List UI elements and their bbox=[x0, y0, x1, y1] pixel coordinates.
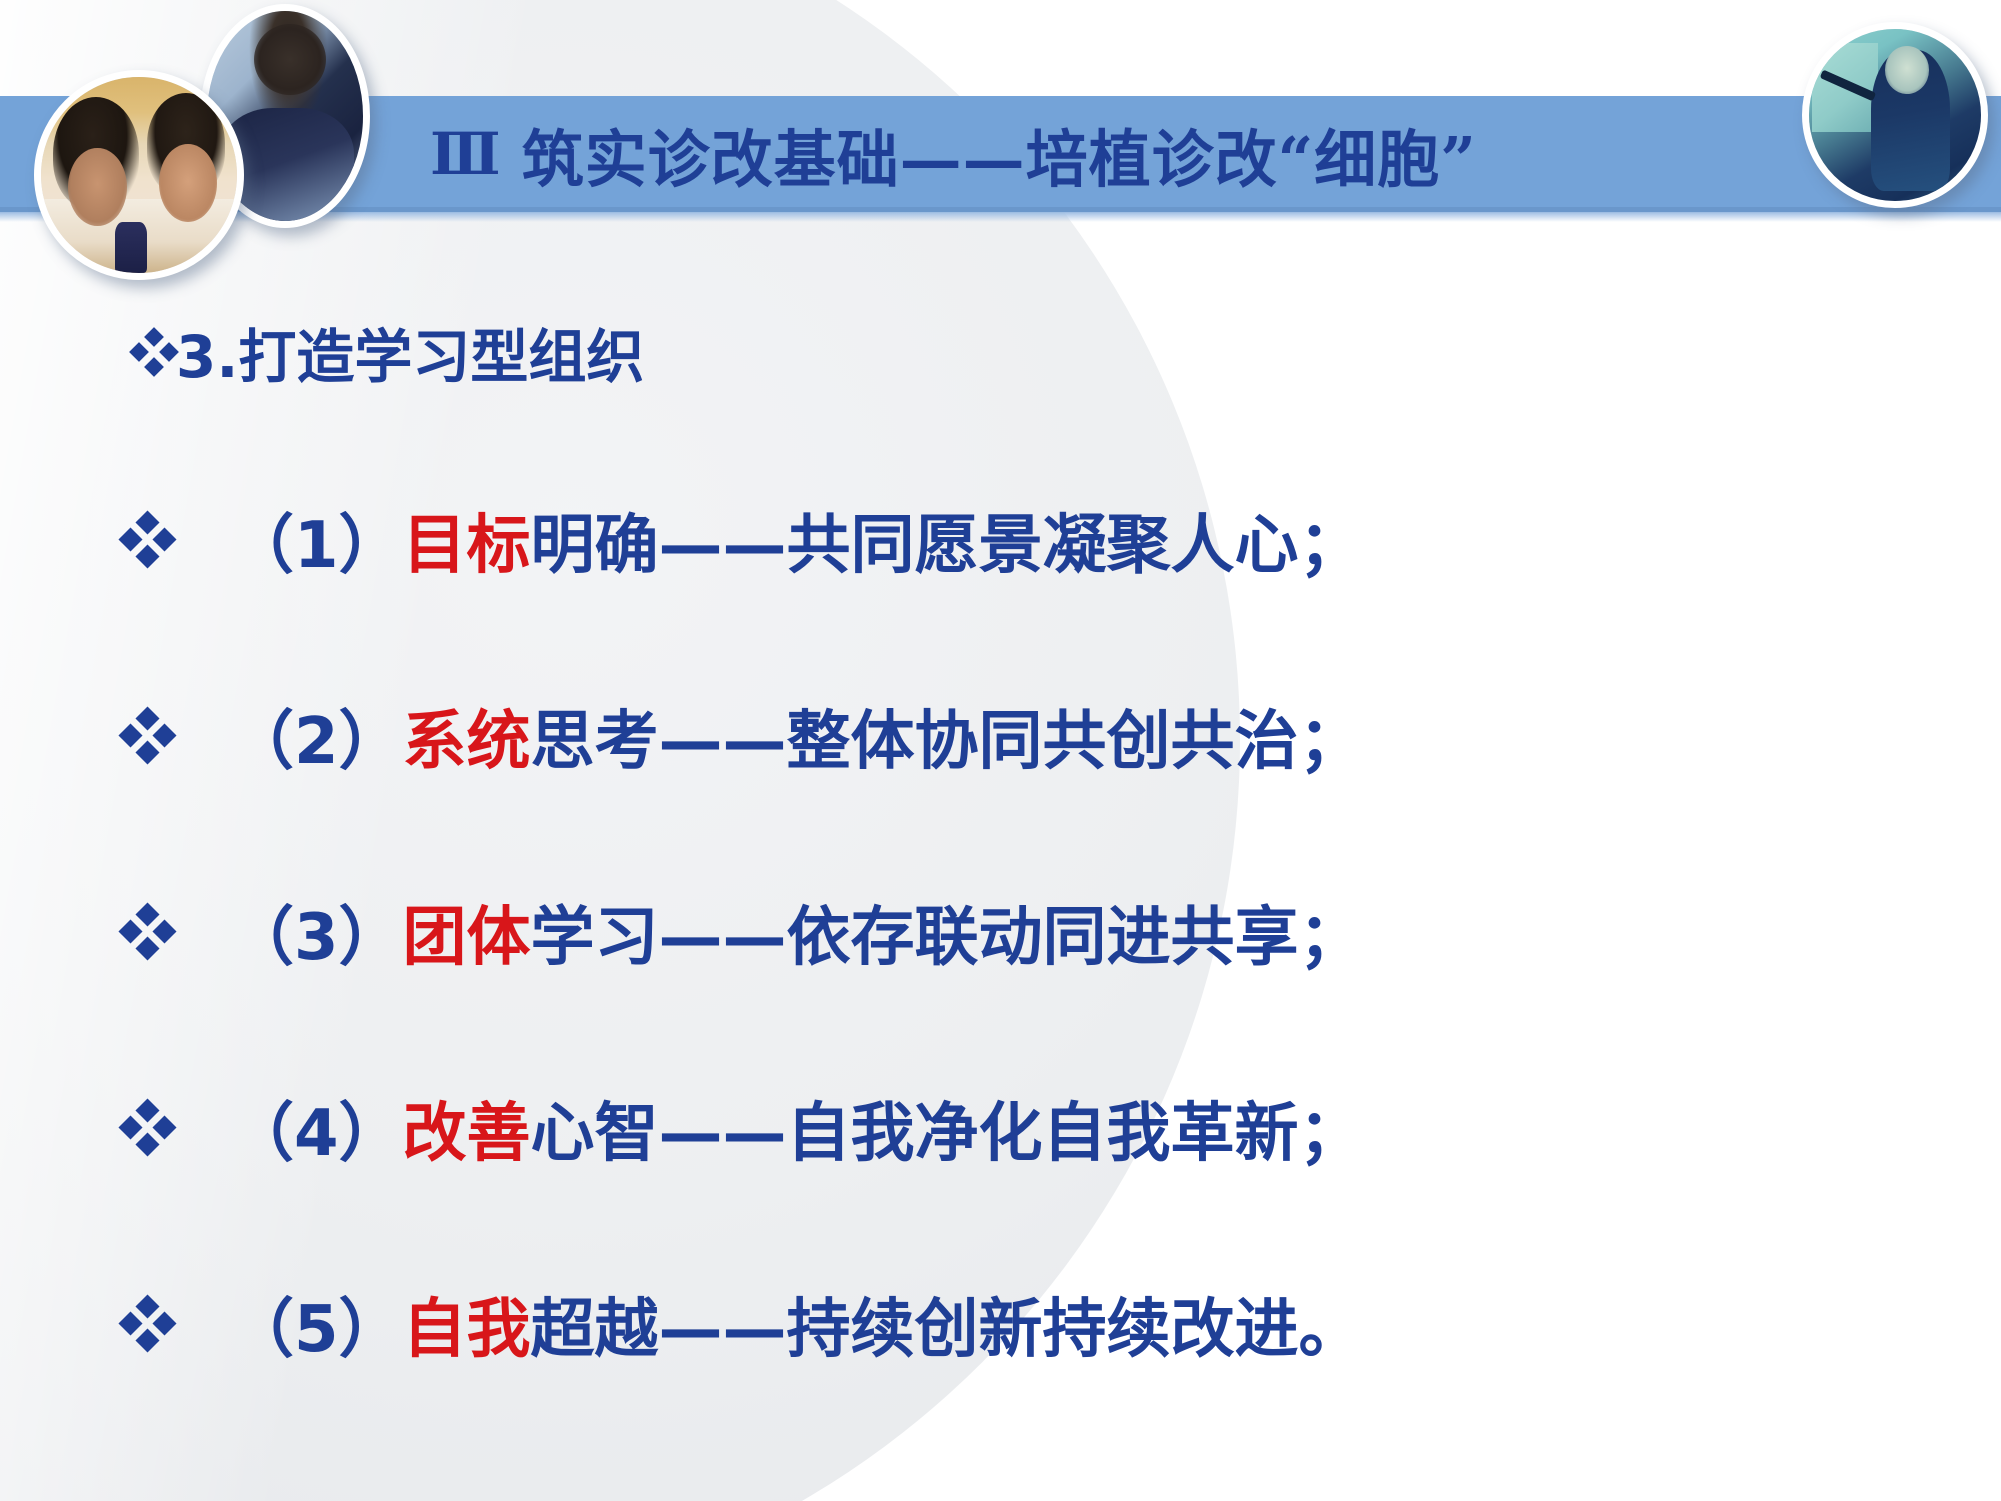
bullet-number-2: （2） bbox=[230, 690, 403, 782]
slide-title-text: 筑实诊改基础——培植诊改“细胞” bbox=[522, 109, 1477, 199]
bullet-number-3: （3） bbox=[230, 886, 403, 978]
bullet-item-3: （3） 团体 学习——依存联动同进共享； bbox=[122, 884, 1822, 980]
section-roman-numeral: Ⅲ bbox=[430, 120, 502, 188]
diamond-cluster-bullet-icon bbox=[122, 1102, 174, 1154]
bullet-text-2: 思考——整体协同共创共治； bbox=[531, 690, 1363, 782]
photo-two-men-at-laptop bbox=[34, 70, 244, 280]
subtitle-row: 3.打造学习型组织 bbox=[132, 310, 644, 394]
bullet-item-5: （5） 自我 超越——持续创新持续改进。 bbox=[122, 1276, 1822, 1372]
bullet-keyword-4: 改善 bbox=[403, 1082, 531, 1174]
presentation-slide: Ⅲ 筑实诊改基础——培植诊改“细胞” 3.打造学习型组织 bbox=[0, 0, 2001, 1501]
diamond-cluster-bullet-icon bbox=[122, 1298, 174, 1350]
photo-b-face-left bbox=[68, 148, 127, 226]
bullet-list: （1） 目标 明确——共同愿景凝聚人心； （2） 系统 思考——整体协同共创共治… bbox=[122, 492, 1822, 1372]
photo-a-head-shape bbox=[254, 24, 326, 95]
photo-b-tie-shape bbox=[115, 222, 146, 273]
subtitle-text: 3.打造学习型组织 bbox=[176, 310, 644, 394]
bullet-item-4: （4） 改善 心智——自我净化自我革新； bbox=[122, 1080, 1822, 1176]
diamond-cluster-bullet-icon bbox=[122, 710, 174, 762]
diamond-cluster-bullet-icon bbox=[132, 330, 176, 374]
bullet-number-5: （5） bbox=[230, 1278, 403, 1370]
bullet-text-1: 明确——共同愿景凝聚人心； bbox=[531, 494, 1363, 586]
bullet-number-4: （4） bbox=[230, 1082, 403, 1174]
bullet-number-1: （1） bbox=[230, 494, 403, 586]
diamond-cluster-bullet-icon bbox=[122, 906, 174, 958]
bullet-item-2: （2） 系统 思考——整体协同共创共治； bbox=[122, 688, 1822, 784]
slide-title: Ⅲ 筑实诊改基础——培植诊改“细胞” bbox=[430, 96, 1477, 212]
bullet-keyword-3: 团体 bbox=[403, 886, 531, 978]
photo-presenter-teal bbox=[1802, 22, 1988, 208]
bullet-item-1: （1） 目标 明确——共同愿景凝聚人心； bbox=[122, 492, 1822, 588]
bullet-keyword-5: 自我 bbox=[403, 1278, 531, 1370]
photo-b-face-right bbox=[159, 144, 218, 222]
bullet-text-4: 心智——自我净化自我革新； bbox=[531, 1082, 1363, 1174]
bullet-keyword-2: 系统 bbox=[403, 690, 531, 782]
bullet-keyword-1: 目标 bbox=[403, 494, 531, 586]
diamond-cluster-bullet-icon bbox=[122, 514, 174, 566]
bullet-text-5: 超越——持续创新持续改进。 bbox=[531, 1278, 1363, 1370]
bullet-text-3: 学习——依存联动同进共享； bbox=[531, 886, 1363, 978]
